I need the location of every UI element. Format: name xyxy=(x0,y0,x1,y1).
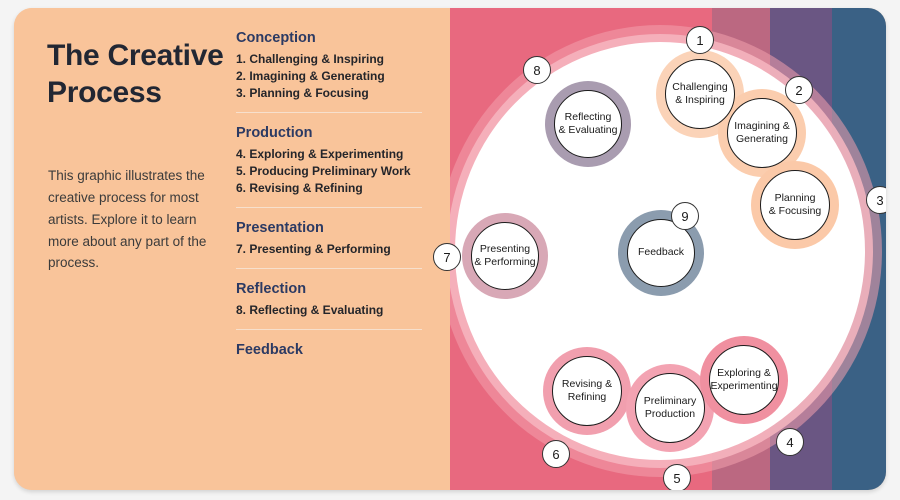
toc-group-feedback: Feedback xyxy=(236,342,422,367)
badge-1[interactable]: 1 xyxy=(686,26,714,54)
badge-label: 2 xyxy=(795,83,802,98)
badge-6[interactable]: 6 xyxy=(542,440,570,468)
badge-2[interactable]: 2 xyxy=(785,76,813,104)
toc-list-reflection: 8. Reflecting & Evaluating xyxy=(236,302,422,319)
node-label: Presenting& Performing xyxy=(472,243,537,269)
toc-heading-production: Production xyxy=(236,125,422,141)
toc-heading-conception: Conception xyxy=(236,30,422,46)
node-preliminary-production[interactable]: PreliminaryProduction xyxy=(635,373,705,443)
node-label: Challenging& Inspiring xyxy=(670,81,729,107)
node-exploring-experimenting[interactable]: Exploring &Experimenting xyxy=(709,345,779,415)
toc-item[interactable]: 8. Reflecting & Evaluating xyxy=(236,302,422,319)
node-label: Revising &Refining xyxy=(560,378,614,404)
toc-group-presentation: Presentation 7. Presenting & Performing xyxy=(236,220,422,258)
badge-8[interactable]: 8 xyxy=(523,56,551,84)
toc-group-conception: Conception 1. Challenging & Inspiring 2.… xyxy=(236,30,422,102)
node-reflecting-evaluating[interactable]: Reflecting& Evaluating xyxy=(554,90,622,158)
badge-label: 5 xyxy=(673,471,680,486)
badge-9[interactable]: 9 xyxy=(671,202,699,230)
badge-4[interactable]: 4 xyxy=(776,428,804,456)
node-presenting-performing[interactable]: Presenting& Performing xyxy=(471,222,539,290)
badge-label: 4 xyxy=(786,435,793,450)
toc-heading-presentation: Presentation xyxy=(236,220,422,236)
badge-3[interactable]: 3 xyxy=(866,186,886,214)
toc-list-presentation: 7. Presenting & Performing xyxy=(236,241,422,258)
toc-group-production: Production 4. Exploring & Experimenting … xyxy=(236,125,422,197)
node-label: Reflecting& Evaluating xyxy=(557,111,620,137)
toc-divider xyxy=(236,207,422,208)
creative-process-diagram: Reflecting& Evaluating 8 Challenging& In… xyxy=(450,8,886,490)
info-panel: The Creative Process This graphic illust… xyxy=(14,8,450,490)
screenshot-root: The Creative Process This graphic illust… xyxy=(0,0,900,500)
node-imagining-generating[interactable]: Imagining &Generating xyxy=(727,98,797,168)
toc-item[interactable]: 7. Presenting & Performing xyxy=(236,241,422,258)
badge-label: 9 xyxy=(681,209,688,224)
toc-item[interactable]: 5. Producing Preliminary Work xyxy=(236,163,422,180)
badge-label: 1 xyxy=(696,33,703,48)
page-title: The Creative Process xyxy=(47,38,237,111)
toc-list-conception: 1. Challenging & Inspiring 2. Imagining … xyxy=(236,51,422,102)
toc-item[interactable]: 6. Revising & Refining xyxy=(236,180,422,197)
node-label: Feedback xyxy=(636,246,686,259)
toc-divider xyxy=(236,329,422,330)
toc-heading-feedback[interactable]: Feedback xyxy=(236,342,422,358)
node-label: Imagining &Generating xyxy=(732,120,791,146)
node-label: PreliminaryProduction xyxy=(642,395,699,421)
intro-paragraph: This graphic illustrates the creative pr… xyxy=(48,165,228,274)
node-planning-focusing[interactable]: Planning& Focusing xyxy=(760,170,830,240)
node-revising-refining[interactable]: Revising &Refining xyxy=(552,356,622,426)
toc-heading-reflection: Reflection xyxy=(236,281,422,297)
toc-divider xyxy=(236,112,422,113)
badge-5[interactable]: 5 xyxy=(663,464,691,490)
toc-item[interactable]: 3. Planning & Focusing xyxy=(236,85,422,102)
toc-item[interactable]: 4. Exploring & Experimenting xyxy=(236,146,422,163)
creative-process-card: The Creative Process This graphic illust… xyxy=(14,8,886,490)
node-label: Exploring &Experimenting xyxy=(708,367,779,393)
badge-label: 6 xyxy=(552,447,559,462)
toc-item[interactable]: 2. Imagining & Generating xyxy=(236,68,422,85)
toc-divider xyxy=(236,268,422,269)
badge-label: 8 xyxy=(533,63,540,78)
toc-group-reflection: Reflection 8. Reflecting & Evaluating xyxy=(236,281,422,319)
badge-label: 3 xyxy=(876,193,883,208)
node-challenging-inspiring[interactable]: Challenging& Inspiring xyxy=(665,59,735,129)
table-of-contents: Conception 1. Challenging & Inspiring 2.… xyxy=(236,30,422,367)
toc-item[interactable]: 1. Challenging & Inspiring xyxy=(236,51,422,68)
toc-list-production: 4. Exploring & Experimenting 5. Producin… xyxy=(236,146,422,197)
node-label: Planning& Focusing xyxy=(767,192,824,218)
